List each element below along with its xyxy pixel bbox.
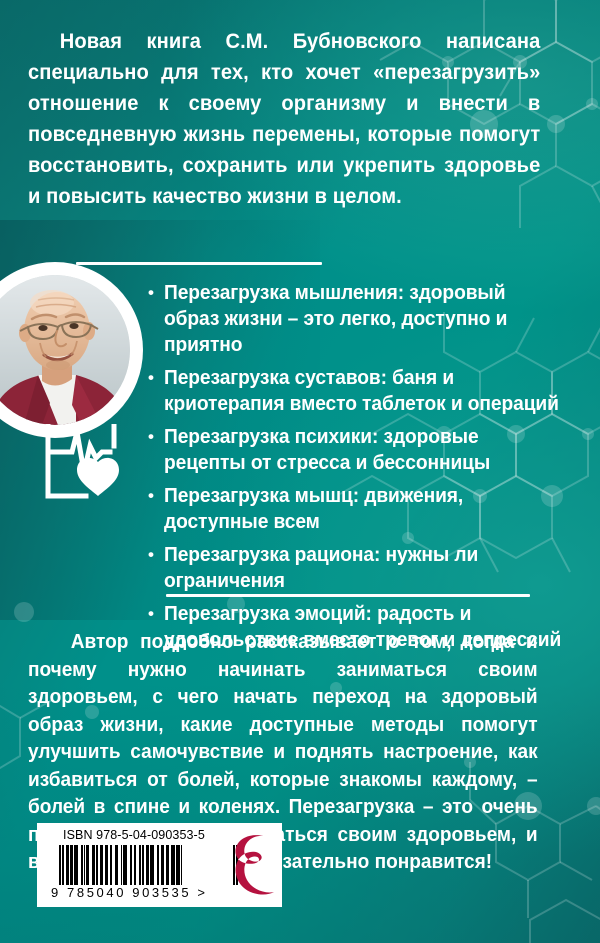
barcode-bars <box>59 845 239 885</box>
isbn-label: ISBN 978-5-04-090353-5 <box>63 828 205 842</box>
divider-middle <box>166 594 530 597</box>
book-back-cover: Новая книга С.М. Бубновского написана сп… <box>0 0 600 943</box>
author-avatar <box>0 275 130 425</box>
list-item-label: Перезагрузка психики: здоровые рецепты о… <box>164 424 563 476</box>
intro-paragraph: Новая книга С.М. Бубновского написана сп… <box>28 26 540 212</box>
feature-bullet-list: • Перезагрузка мышления: здоровый образ … <box>148 280 580 660</box>
bullet-marker-icon: • <box>148 280 164 358</box>
ecg-heart-icon <box>26 424 138 508</box>
list-item: • Перезагрузка рациона: нужны ли огранич… <box>148 542 580 594</box>
list-item: • Перезагрузка суставов: баня и криотера… <box>148 365 580 417</box>
list-item: • Перезагрузка психики: здоровые рецепты… <box>148 424 580 476</box>
bullet-marker-icon: • <box>148 424 164 476</box>
list-item-label: Перезагрузка суставов: баня и криотерапи… <box>164 365 563 417</box>
list-item-label: Перезагрузка мышц: движения, доступные в… <box>164 483 563 535</box>
eksmo-logo-icon <box>222 832 284 898</box>
bullet-marker-icon: • <box>148 542 164 594</box>
bullet-marker-icon: • <box>148 365 164 417</box>
divider-top <box>76 262 322 265</box>
list-item-label: Перезагрузка рациона: нужны ли ограничен… <box>164 542 563 594</box>
list-item: • Перезагрузка мышления: здоровый образ … <box>148 280 580 358</box>
bullet-marker-icon: • <box>148 483 164 535</box>
list-item: • Перезагрузка мышц: движения, доступные… <box>148 483 580 535</box>
list-item-label: Перезагрузка мышления: здоровый образ жи… <box>164 280 563 358</box>
